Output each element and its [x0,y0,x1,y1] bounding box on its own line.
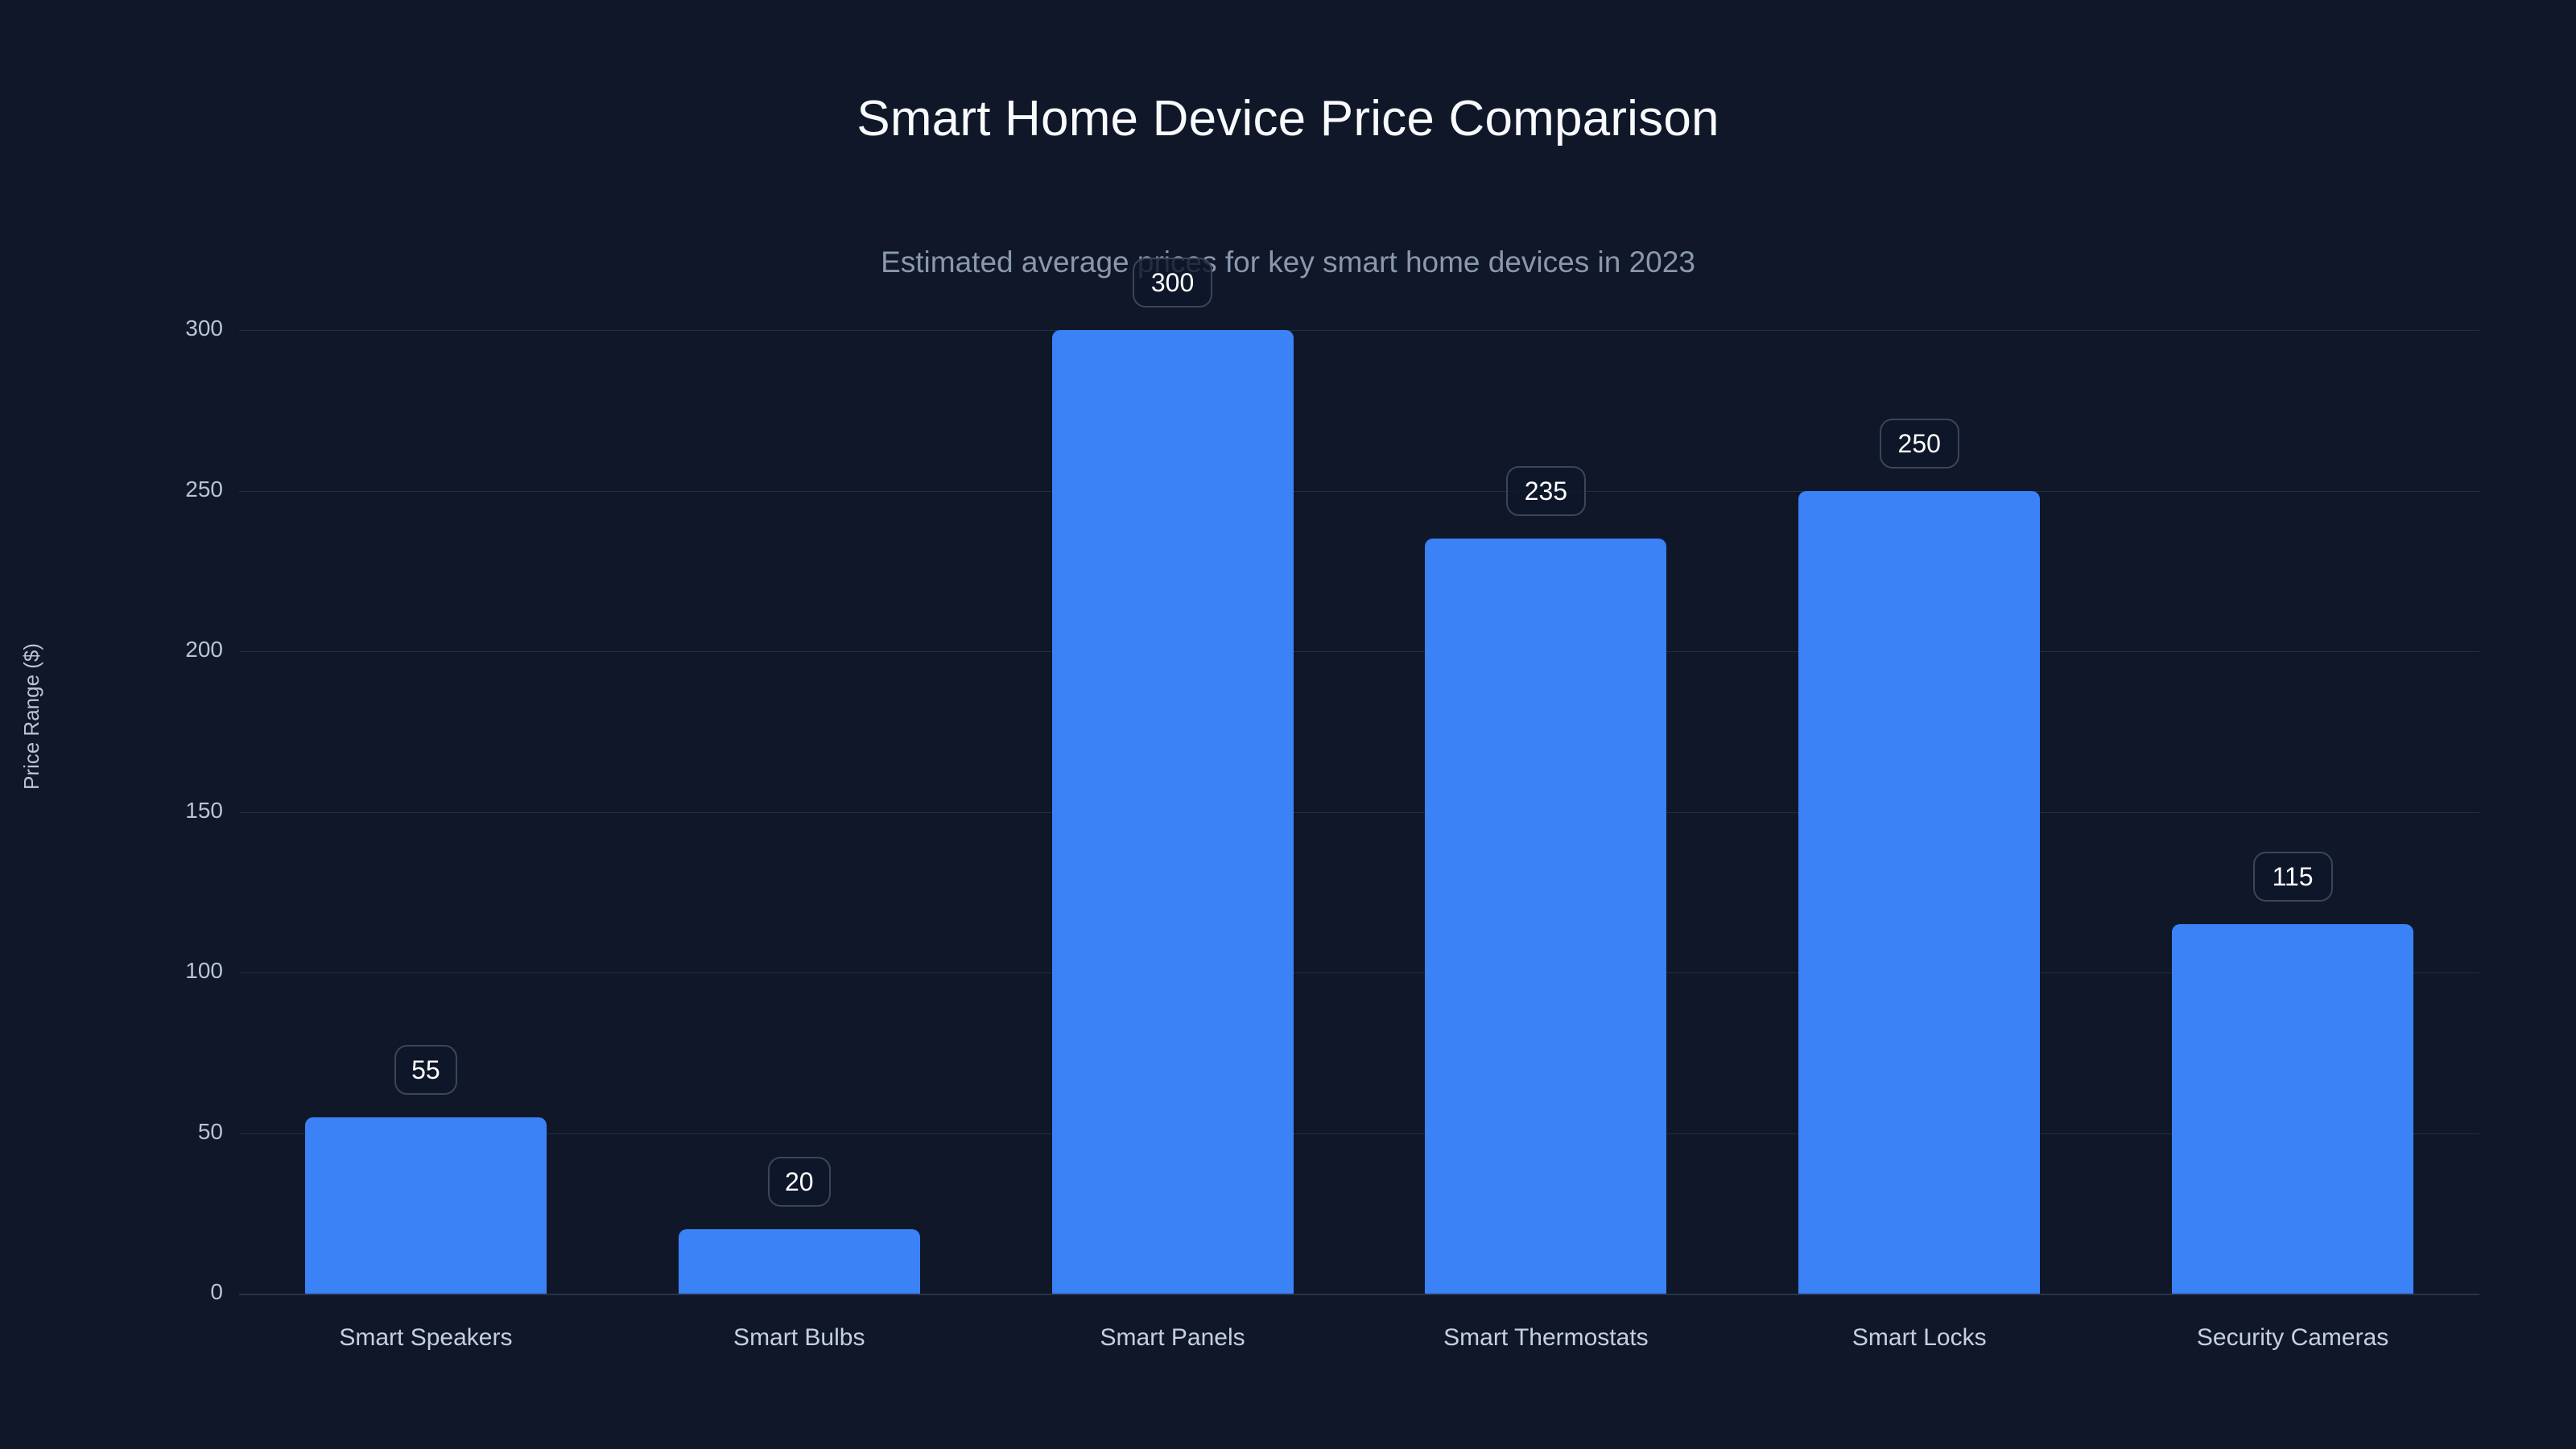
chart-canvas: Smart Home Device Price Comparison Estim… [0,0,2576,1449]
x-axis-line [239,1294,2479,1295]
bar[interactable] [2172,924,2413,1294]
x-tick-label: Smart Bulbs [733,1324,865,1352]
y-tick-label: 250 [78,477,223,502]
gridline [239,651,2479,652]
y-tick-label: 300 [78,316,223,341]
x-tick-label: Smart Thermostats [1443,1324,1649,1352]
bar-value-badge: 55 [394,1045,457,1095]
bar-value-badge: 250 [1880,419,1959,469]
y-tick-label: 0 [78,1279,223,1305]
y-tick-label: 150 [78,798,223,824]
gridline [239,812,2479,813]
gridline [239,491,2479,492]
y-axis-title: Price Range ($) [19,596,44,837]
bar[interactable] [1425,539,1666,1294]
bar[interactable] [305,1117,547,1294]
x-tick-label: Smart Panels [1100,1324,1245,1352]
x-tick-label: Security Cameras [2197,1324,2388,1352]
bar[interactable] [1052,330,1294,1294]
gridline [239,330,2479,331]
bar-value-badge: 115 [2253,852,2333,902]
bar-value-badge: 300 [1133,258,1212,308]
x-tick-label: Smart Locks [1852,1324,1987,1352]
chart-title: Smart Home Device Price Comparison [0,90,2576,147]
bar[interactable] [679,1229,920,1294]
bar[interactable] [1798,491,2040,1294]
plot-area [239,330,2479,1294]
gridline [239,972,2479,973]
y-tick-label: 200 [78,637,223,663]
y-tick-label: 100 [78,958,223,984]
x-tick-label: Smart Speakers [339,1324,512,1352]
chart-subtitle: Estimated average prices for key smart h… [0,246,2576,279]
gridline [239,1133,2479,1134]
bar-value-badge: 20 [768,1157,831,1207]
bar-value-badge: 235 [1506,466,1586,516]
y-tick-label: 50 [78,1119,223,1145]
